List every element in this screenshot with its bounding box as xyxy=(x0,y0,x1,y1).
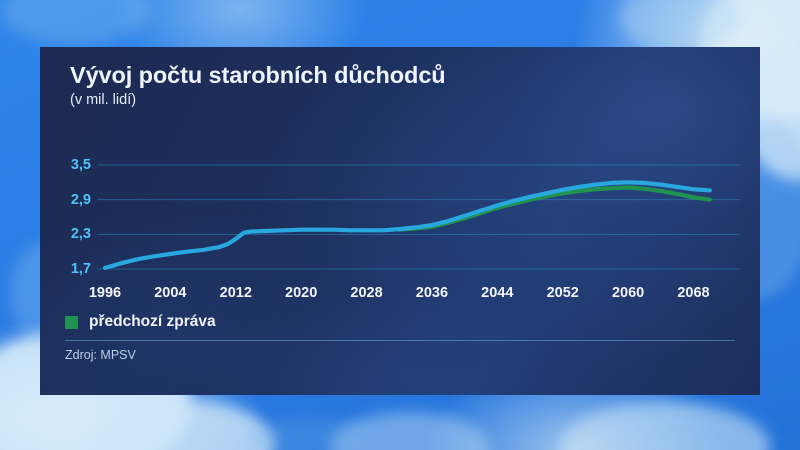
x-tick-label: 2004 xyxy=(154,285,186,301)
y-tick-label: 2,9 xyxy=(43,192,91,208)
y-tick-label: 3,5 xyxy=(43,157,91,173)
legend-item-label: předchozí zpráva xyxy=(89,313,216,331)
x-tick-label: 2052 xyxy=(547,285,579,301)
x-tick-label: 1996 xyxy=(89,285,121,301)
x-tick-label: 2036 xyxy=(416,285,448,301)
source-note: Zdroj: MPSV xyxy=(65,348,136,362)
y-tick-label: 1,7 xyxy=(43,261,91,277)
x-tick-label: 2068 xyxy=(677,285,709,301)
plot-area: 1,72,32,93,5 199620042012202020282036204… xyxy=(40,47,760,395)
chart-panel: Vývoj počtu starobních důchodců (v mil. … xyxy=(40,47,760,395)
square-marker-icon xyxy=(65,316,78,329)
chart-legend: předchozí zpráva xyxy=(65,313,216,331)
screenshot-root: Vývoj počtu starobních důchodců (v mil. … xyxy=(0,0,800,450)
x-tick-label: 2012 xyxy=(220,285,252,301)
y-tick-label: 2,3 xyxy=(43,226,91,242)
legend-divider xyxy=(65,340,735,341)
y-axis-tick-labels: 1,72,32,93,5 xyxy=(40,47,760,395)
x-tick-label: 2044 xyxy=(481,285,513,301)
x-tick-label: 2028 xyxy=(350,285,382,301)
x-tick-label: 2020 xyxy=(285,285,317,301)
x-tick-label: 2060 xyxy=(612,285,644,301)
